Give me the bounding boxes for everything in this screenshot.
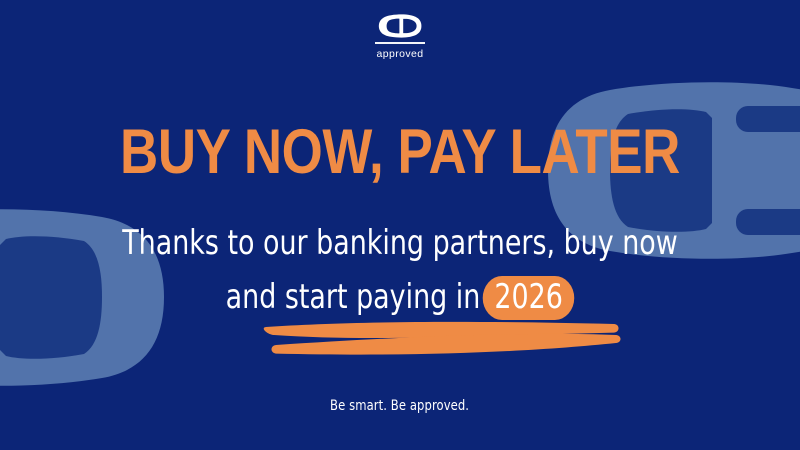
subheading-line-1: Thanks to our banking partners, buy now bbox=[48, 216, 752, 270]
subheading: Thanks to our banking partners, buy now … bbox=[0, 216, 800, 324]
page-title: BUY NOW, PAY LATER bbox=[64, 119, 736, 185]
brand-logo: approved bbox=[0, 14, 800, 60]
promo-poster: approved BUY NOW, PAY LATER Thanks to ou… bbox=[0, 0, 800, 450]
logo-divider-rule bbox=[375, 42, 425, 44]
subheading-line-2: and start paying in2026 bbox=[48, 270, 752, 324]
subheading-line-2-text: and start paying in bbox=[226, 277, 481, 317]
car-top-view-icon bbox=[378, 14, 422, 38]
tagline-text: Be smart. Be approved. bbox=[330, 398, 469, 414]
year-badge: 2026 bbox=[483, 276, 574, 320]
tagline: Be smart. Be approved. bbox=[0, 398, 800, 414]
logo-wordmark: approved bbox=[377, 48, 424, 60]
